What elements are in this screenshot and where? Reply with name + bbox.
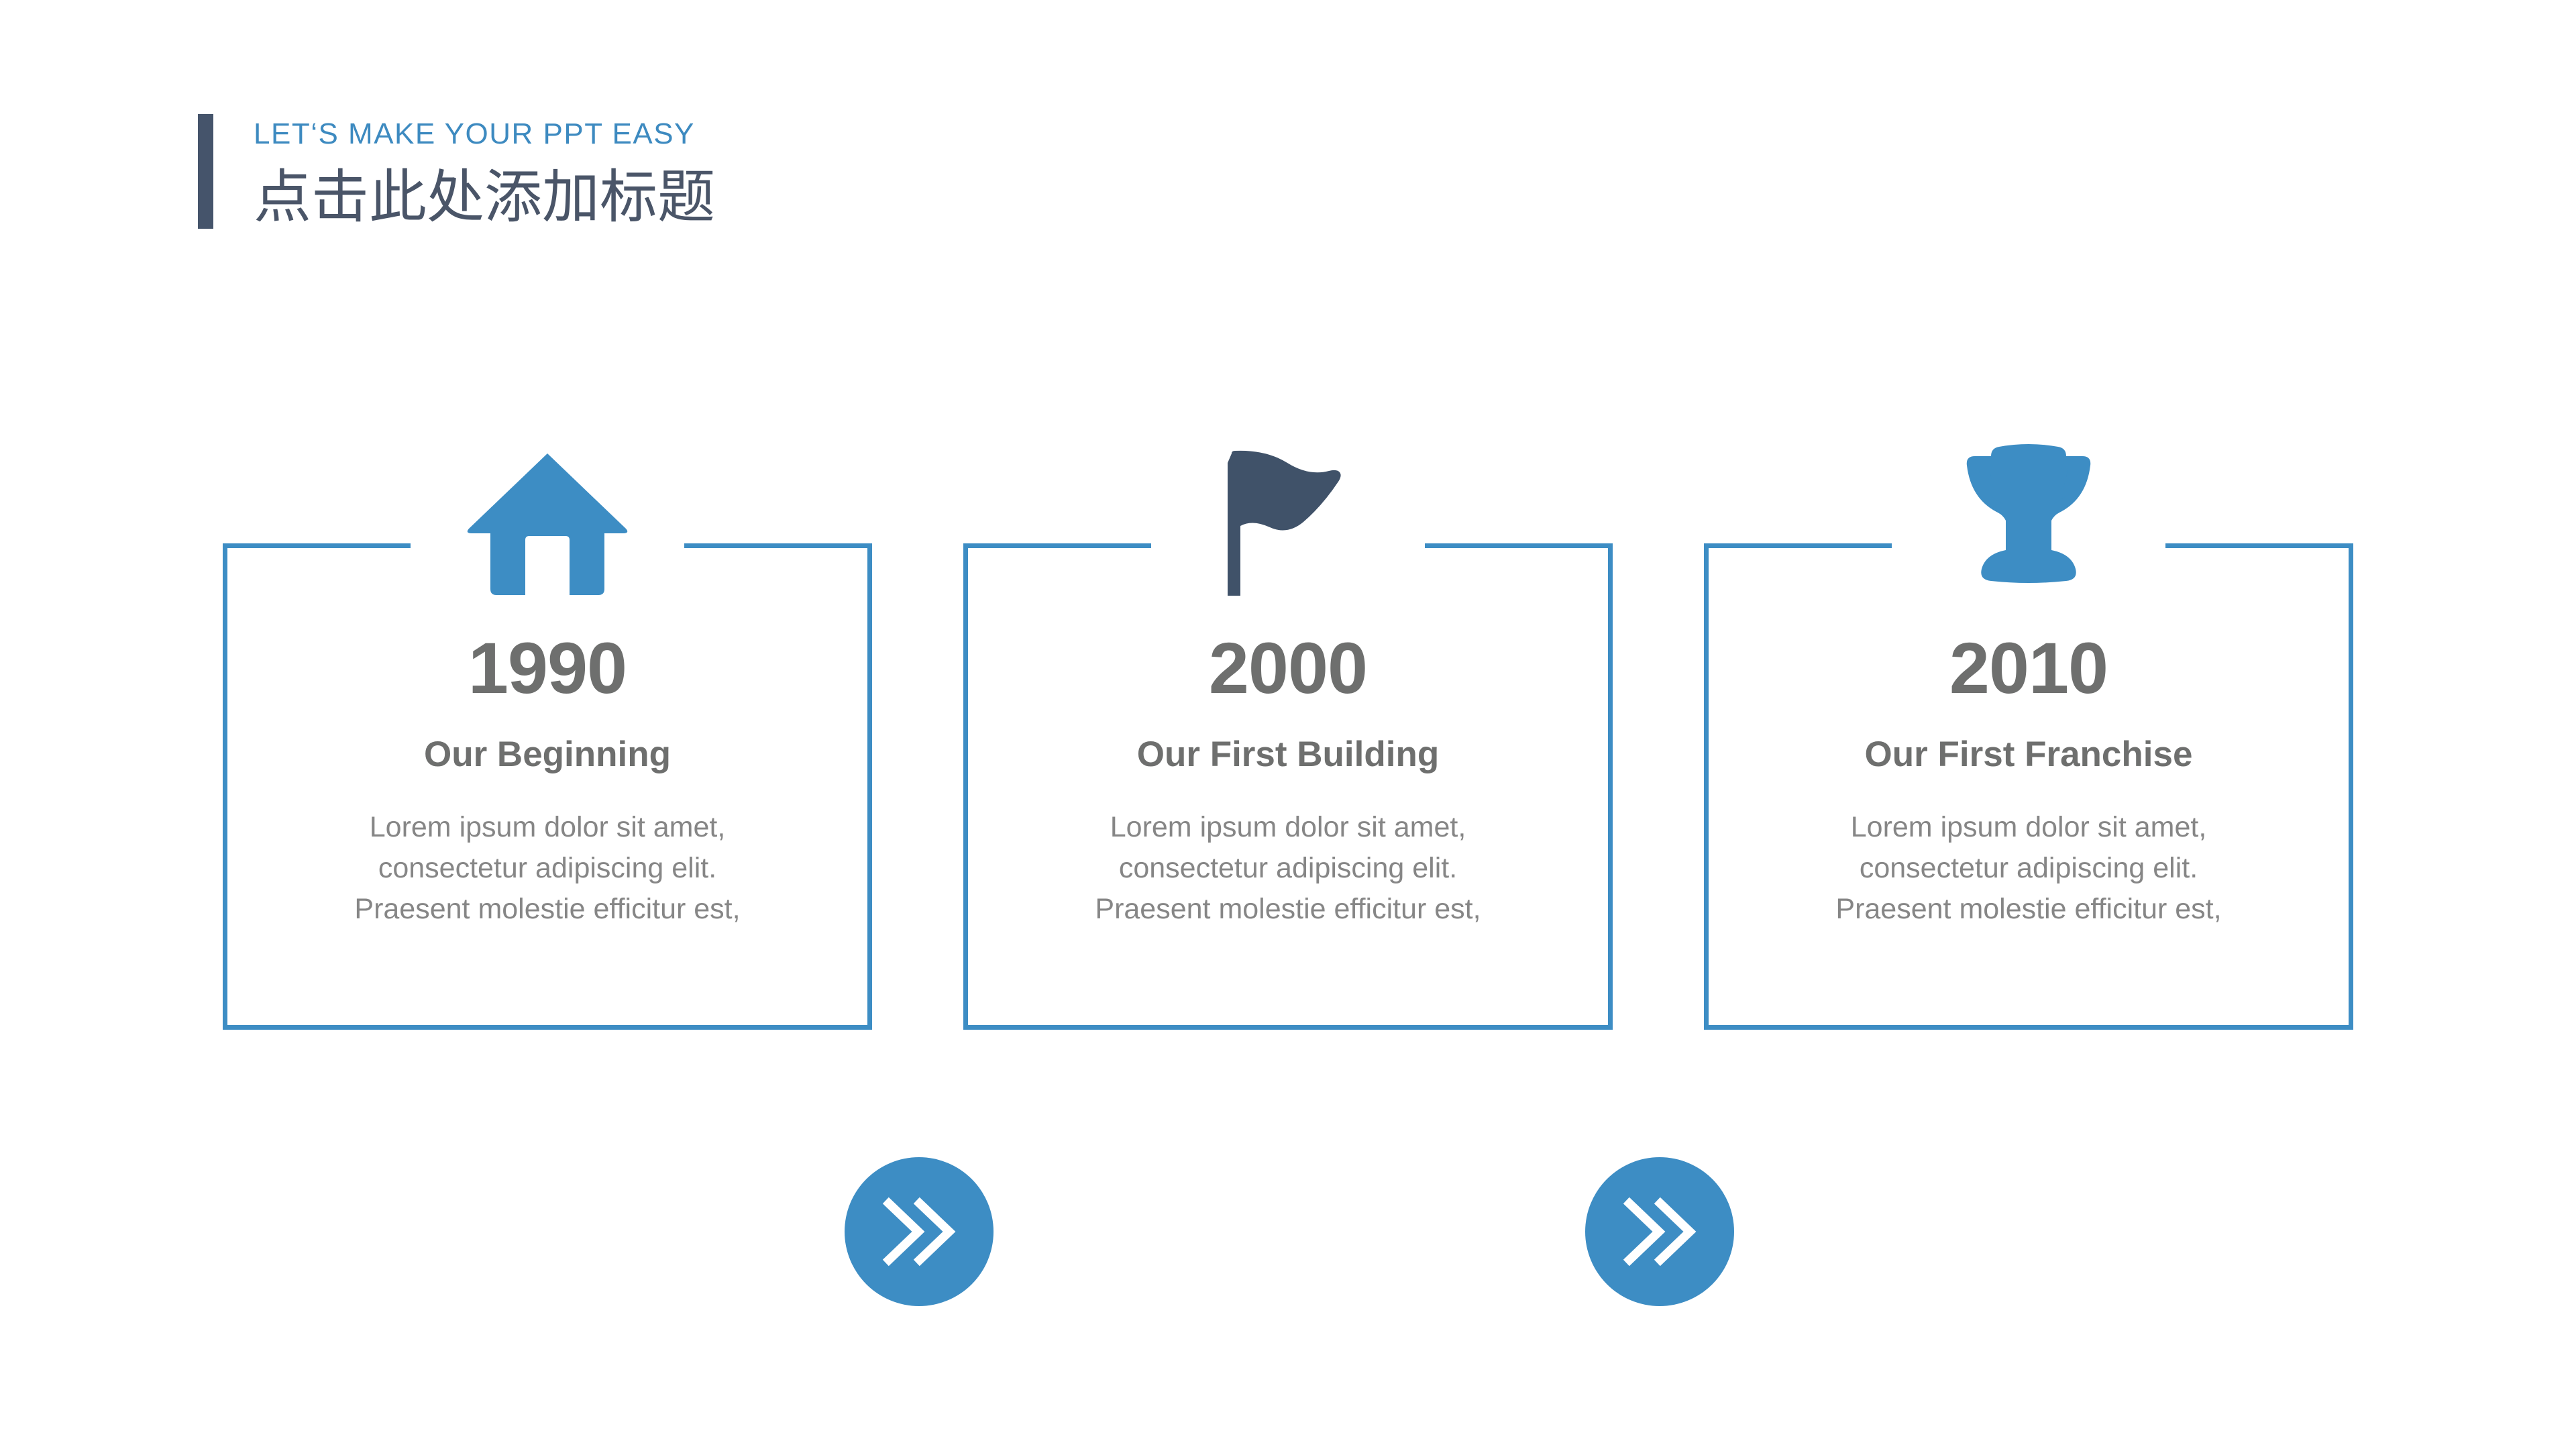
description-line: consectetur adipiscing elit. bbox=[1731, 848, 2326, 889]
milestone-subtitle: Our First Franchise bbox=[1731, 737, 2326, 772]
milestone-year: 2010 bbox=[1731, 632, 2326, 704]
home-icon bbox=[464, 441, 631, 596]
card-border-top-left bbox=[1704, 543, 1892, 548]
milestone-year: 1990 bbox=[250, 632, 845, 704]
description-line: Lorem ipsum dolor sit amet, bbox=[990, 807, 1586, 848]
card-border-bottom bbox=[1704, 1025, 2353, 1030]
header-eyebrow: LET‘S MAKE YOUR PPT EASY bbox=[254, 119, 715, 149]
card-border-bottom bbox=[223, 1025, 872, 1030]
card-border-top-right bbox=[1425, 543, 1613, 548]
slide-canvas: LET‘S MAKE YOUR PPT EASY 点击此处添加标题 1990 O… bbox=[0, 0, 2576, 1449]
connector-chevron-1[interactable] bbox=[845, 1157, 994, 1306]
flag-icon bbox=[1204, 441, 1372, 596]
connector-chevron-2[interactable] bbox=[1585, 1157, 1734, 1306]
description-line: consectetur adipiscing elit. bbox=[990, 848, 1586, 889]
description-line: Praesent molestie efficitur est, bbox=[250, 889, 845, 930]
card-border-top-left bbox=[963, 543, 1151, 548]
double-chevron-right-icon bbox=[1623, 1197, 1697, 1267]
milestone-description: Lorem ipsum dolor sit amet, consectetur … bbox=[1731, 807, 2326, 930]
description-line: Praesent molestie efficitur est, bbox=[1731, 889, 2326, 930]
trophy-icon bbox=[1945, 441, 2112, 596]
card-body-2010: 2010 Our First Franchise Lorem ipsum dol… bbox=[1704, 632, 2353, 930]
card-border-top-left bbox=[223, 543, 411, 548]
double-chevron-right-icon bbox=[882, 1197, 956, 1267]
slide-header: LET‘S MAKE YOUR PPT EASY 点击此处添加标题 bbox=[198, 114, 715, 229]
description-line: Lorem ipsum dolor sit amet, bbox=[1731, 807, 2326, 848]
milestone-subtitle: Our Beginning bbox=[250, 737, 845, 772]
milestone-description: Lorem ipsum dolor sit amet, consectetur … bbox=[990, 807, 1586, 930]
milestone-year: 2000 bbox=[990, 632, 1586, 704]
card-body-1990: 1990 Our Beginning Lorem ipsum dolor sit… bbox=[223, 632, 872, 930]
page-title: 点击此处添加标题 bbox=[254, 166, 715, 229]
milestone-card-2000[interactable]: 2000 Our First Building Lorem ipsum dolo… bbox=[963, 543, 1613, 1030]
description-line: Praesent molestie efficitur est, bbox=[990, 889, 1586, 930]
milestone-description: Lorem ipsum dolor sit amet, consectetur … bbox=[250, 807, 845, 930]
card-border-top-right bbox=[684, 543, 872, 548]
card-border-top-right bbox=[2165, 543, 2353, 548]
description-line: consectetur adipiscing elit. bbox=[250, 848, 845, 889]
card-body-2000: 2000 Our First Building Lorem ipsum dolo… bbox=[963, 632, 1613, 930]
header-text-group: LET‘S MAKE YOUR PPT EASY 点击此处添加标题 bbox=[254, 114, 715, 229]
milestone-subtitle: Our First Building bbox=[990, 737, 1586, 772]
header-accent-bar bbox=[198, 114, 213, 229]
card-border-bottom bbox=[963, 1025, 1613, 1030]
description-line: Lorem ipsum dolor sit amet, bbox=[250, 807, 845, 848]
milestone-card-1990[interactable]: 1990 Our Beginning Lorem ipsum dolor sit… bbox=[223, 543, 872, 1030]
timeline-section: 1990 Our Beginning Lorem ipsum dolor sit… bbox=[0, 443, 2576, 1046]
milestone-card-2010[interactable]: 2010 Our First Franchise Lorem ipsum dol… bbox=[1704, 543, 2353, 1030]
